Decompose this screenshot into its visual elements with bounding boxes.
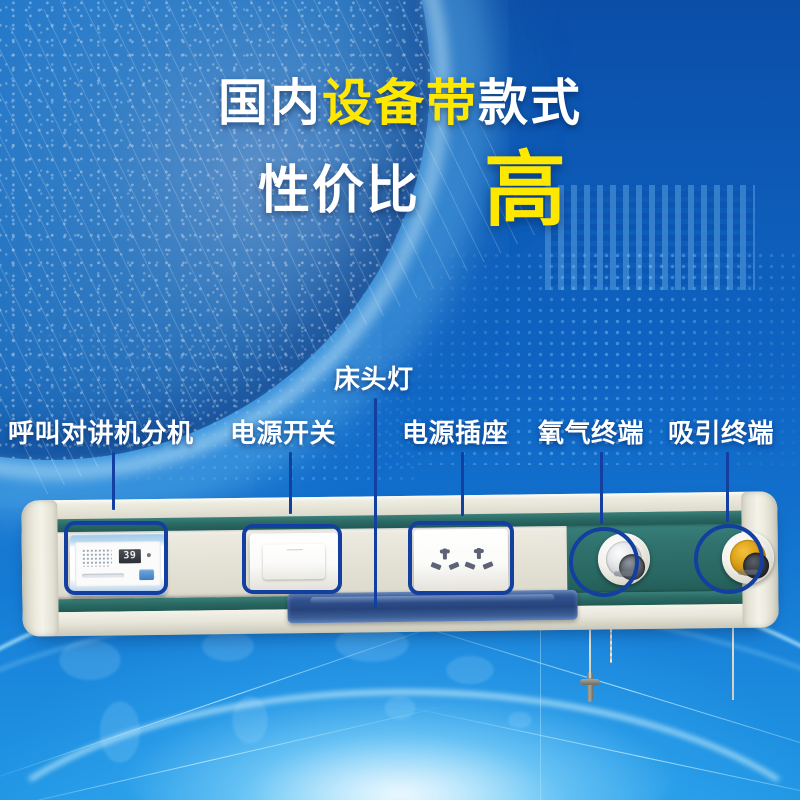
leader-line-suction	[726, 452, 729, 522]
headline-line-1: 国内设备带款式	[0, 78, 800, 128]
callout-intercom: 呼叫对讲机分机	[8, 413, 194, 450]
headline-block: 国内设备带款式 性价比 高	[0, 78, 800, 232]
leader-line-intercom	[112, 452, 115, 510]
bed-light-pull-cord	[589, 630, 591, 678]
highlight-box-power-socket	[408, 521, 514, 595]
headline-suffix: 款式	[478, 74, 582, 132]
headline-big-word: 高	[484, 150, 566, 232]
highlight-box-power-switch	[242, 524, 342, 594]
vertical-guide-line	[540, 620, 541, 800]
callout-power-switch: 电源开关	[230, 413, 336, 450]
headline-line-2: 性价比 高	[0, 150, 800, 232]
headline-prefix: 国内	[218, 74, 322, 132]
callout-power-socket: 电源插座	[402, 413, 508, 450]
leader-line-bed-light	[374, 398, 377, 608]
callout-bed-light: 床头灯	[334, 359, 414, 396]
leader-line-oxygen	[600, 452, 603, 524]
cross-horizontal	[580, 679, 600, 685]
highlight-ring-oxygen	[569, 527, 639, 597]
leader-line-power-switch	[289, 452, 292, 514]
promo-banner: 国内设备带款式 性价比 高 呼叫对讲机分机 电源开关 床头灯 电源插座 氧气终端…	[0, 0, 800, 800]
headline-subtext: 性价比	[258, 165, 420, 217]
device-end-cap-left	[21, 500, 59, 636]
callout-oxygen-terminal: 氧气终端	[538, 413, 644, 450]
headline-highlight: 设备带	[322, 74, 478, 132]
leader-line-power-socket	[461, 452, 464, 516]
highlight-ring-suction	[694, 524, 764, 594]
callout-suction-terminal: 吸引终端	[668, 413, 774, 450]
highlight-box-intercom	[64, 521, 168, 595]
halftone-dots-left	[0, 330, 420, 480]
